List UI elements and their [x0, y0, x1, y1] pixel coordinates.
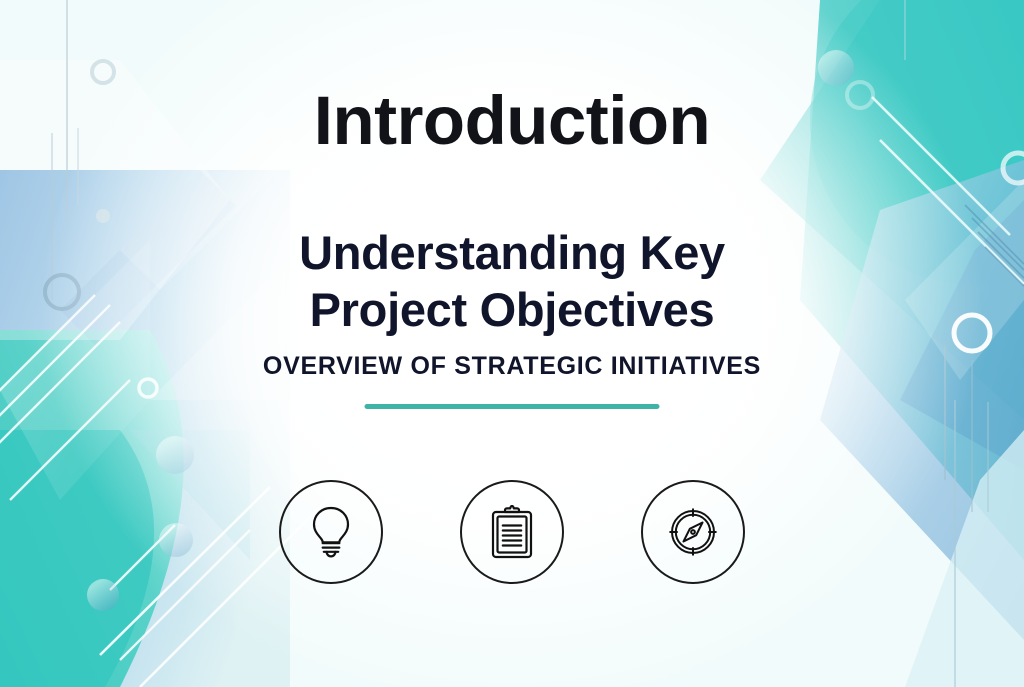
presentation-slide: Introduction Understanding Key Project O…	[0, 0, 1024, 687]
compass-icon	[667, 506, 719, 558]
lightbulb-icon	[309, 505, 353, 559]
icon-badge-clipboard[interactable]	[460, 480, 564, 584]
title-divider	[365, 404, 660, 409]
slide-tagline: OVERVIEW OF STRATEGIC INITIATIVES	[0, 352, 1024, 381]
icon-badge-compass[interactable]	[641, 480, 745, 584]
slide-content: Introduction Understanding Key Project O…	[0, 0, 1024, 687]
subtitle-line-1: Understanding Key	[0, 224, 1024, 281]
page-title: Introduction	[0, 86, 1024, 155]
icon-badge-lightbulb[interactable]	[279, 480, 383, 584]
slide-subtitle: Understanding Key Project Objectives	[0, 224, 1024, 339]
clipboard-icon	[489, 505, 535, 559]
icon-row	[0, 480, 1024, 584]
subtitle-line-2: Project Objectives	[0, 281, 1024, 338]
